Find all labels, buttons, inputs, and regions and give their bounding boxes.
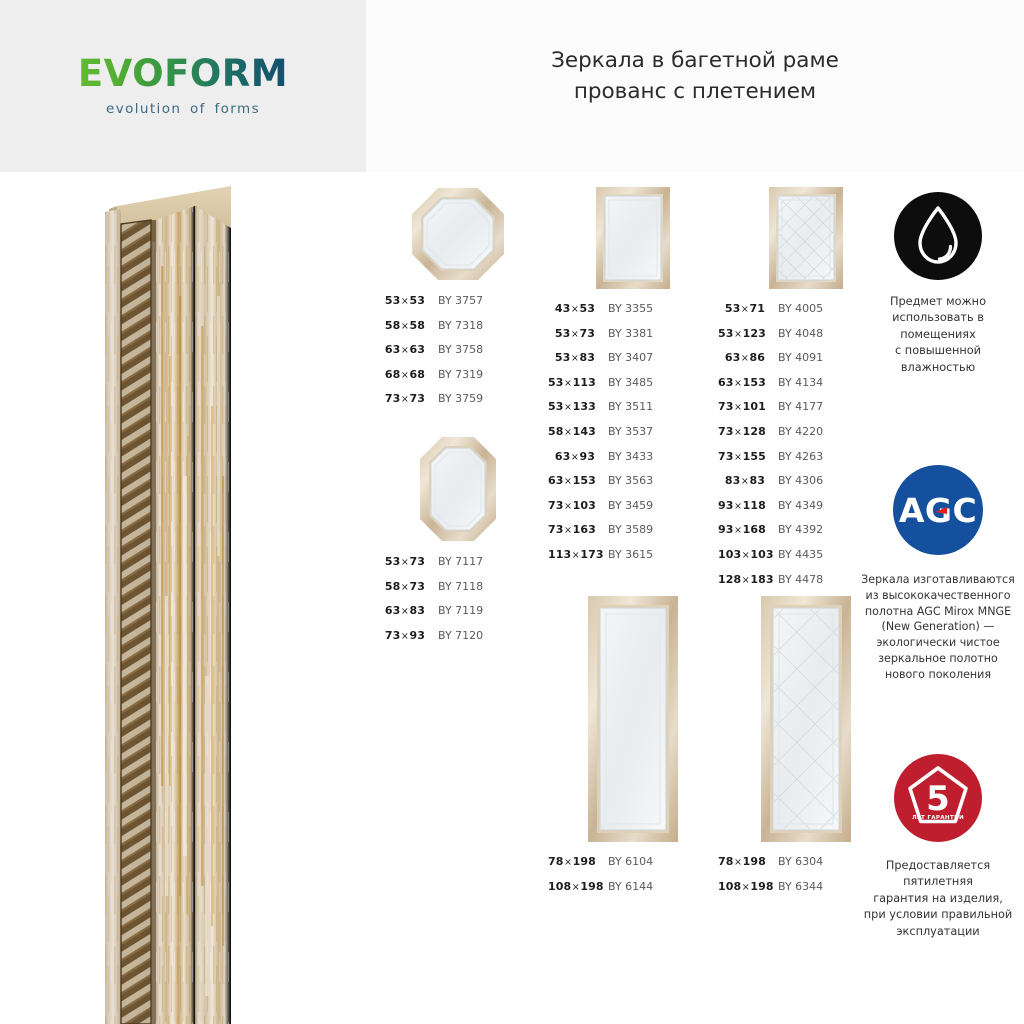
size-row: 63×153BY 3563	[548, 474, 718, 499]
size-row: 63×63BY 3758	[378, 343, 538, 368]
brand-name: EVOFORM	[78, 55, 288, 92]
size-dimension: 53×113	[548, 376, 608, 389]
text-line: пятилетняя	[848, 874, 1024, 890]
size-dimension: 63×63	[378, 343, 438, 356]
mirror-floor-engraved-icon	[760, 595, 852, 843]
frame-profile-illustration	[95, 176, 231, 1024]
size-dimension: 93×118	[718, 499, 778, 512]
size-article-code: BY 3589	[608, 523, 653, 536]
size-dimension: 58×58	[378, 319, 438, 332]
size-row: 53×73BY 7117	[378, 555, 538, 580]
mirror-octagon-square-icon	[410, 186, 506, 282]
size-dimension: 73×128	[718, 425, 778, 438]
size-article-code: BY 4005	[778, 302, 823, 315]
size-article-code: BY 7117	[438, 555, 483, 568]
product-group-rect-plain: 43×53BY 335553×73BY 338153×83BY 340753×1…	[548, 186, 718, 573]
size-article-code: BY 6104	[608, 855, 653, 868]
size-article-code: BY 6304	[778, 855, 823, 868]
text-line: Зеркала изготавливаются	[848, 572, 1024, 588]
size-dimension: 53×83	[548, 351, 608, 364]
size-dimension: 113×173	[548, 548, 608, 561]
size-row: 73×73BY 3759	[378, 392, 538, 417]
size-row: 73×128BY 4220	[718, 425, 893, 450]
mirror-rect-engraved-icon	[768, 186, 844, 290]
size-row: 108×198BY 6144	[548, 880, 718, 905]
size-dimension: 78×198	[548, 855, 608, 868]
size-article-code: BY 3433	[608, 450, 653, 463]
size-dimension: 103×103	[718, 548, 778, 561]
size-article-code: BY 3615	[608, 548, 653, 561]
thumbnail-octagon-square[interactable]	[378, 186, 538, 282]
text-line: использовать в	[848, 310, 1024, 326]
feature-agc-glass: AGC Зеркала изготавливаютсяиз высококаче…	[848, 462, 1024, 682]
warranty-5-years-icon: 5 ЛЕТ ГАРАНТИИ	[892, 752, 984, 844]
size-row: 78×198BY 6104	[548, 855, 718, 880]
mirror-octagon-portrait-icon	[418, 435, 498, 543]
size-dimension: 63×93	[548, 450, 608, 463]
size-row: 43×53BY 3355	[548, 302, 718, 327]
agc-description: Зеркала изготавливаютсяиз высококачестве…	[848, 572, 1024, 682]
size-article-code: BY 6144	[608, 880, 653, 893]
size-row: 63×83BY 7119	[378, 604, 538, 629]
size-article-code: BY 4349	[778, 499, 823, 512]
size-list-rect-plain: 43×53BY 335553×73BY 338153×83BY 340753×1…	[548, 302, 718, 573]
product-group-octagon-square: 53×53BY 375758×58BY 731863×63BY 375868×6…	[378, 186, 538, 417]
feature-moisture: Предмет можноиспользовать впомещенияхс п…	[848, 192, 1024, 376]
moisture-description: Предмет можноиспользовать впомещенияхс п…	[848, 294, 1024, 376]
size-article-code: BY 4220	[778, 425, 823, 438]
size-row: 73×101BY 4177	[718, 400, 893, 425]
size-dimension: 73×103	[548, 499, 608, 512]
size-article-code: BY 4177	[778, 400, 823, 413]
size-article-code: BY 6344	[778, 880, 823, 893]
size-dimension: 73×73	[378, 392, 438, 405]
size-dimension: 108×198	[548, 880, 608, 893]
moisture-badge	[848, 192, 1024, 280]
size-dimension: 63×153	[548, 474, 608, 487]
page-header: EVOFORM evolution of forms Зеркала в баг…	[0, 0, 1024, 172]
text-line: из высококачественного	[848, 588, 1024, 604]
feature-warranty: 5 ЛЕТ ГАРАНТИИ Предоставляетсяпятилетняя…	[848, 752, 1024, 940]
size-dimension: 128×183	[718, 573, 778, 586]
size-dimension: 93×168	[718, 523, 778, 536]
size-article-code: BY 7119	[438, 604, 483, 617]
size-row: 58×58BY 7318	[378, 319, 538, 344]
text-line: (New Generation) —	[848, 619, 1024, 635]
size-article-code: BY 4478	[778, 573, 823, 586]
size-article-code: BY 3485	[608, 376, 653, 389]
size-row: 53×133BY 3511	[548, 400, 718, 425]
text-line: экологически чистое	[848, 635, 1024, 651]
product-group-floor-plain: 78×198BY 6104108×198BY 6144	[548, 595, 718, 904]
size-dimension: 43×53	[548, 302, 608, 315]
warranty-sublabel: ЛЕТ ГАРАНТИИ	[912, 815, 964, 821]
size-article-code: BY 4263	[778, 450, 823, 463]
page-title-line-1: Зеркала в багетной раме	[551, 46, 839, 77]
size-row: 53×53BY 3757	[378, 294, 538, 319]
size-row: 53×73BY 3381	[548, 327, 718, 352]
size-dimension: 83×83	[718, 474, 778, 487]
size-article-code: BY 3381	[608, 327, 653, 340]
size-article-code: BY 3459	[608, 499, 653, 512]
page-title-line-2: прованс с плетением	[551, 77, 839, 108]
size-article-code: BY 4435	[778, 548, 823, 561]
size-row: 73×103BY 3459	[548, 499, 718, 524]
size-article-code: BY 3758	[438, 343, 483, 356]
size-row: 73×163BY 3589	[548, 523, 718, 548]
text-line: при условии правильной	[848, 907, 1024, 923]
warranty-badge: 5 ЛЕТ ГАРАНТИИ	[848, 752, 1024, 844]
text-line: помещениях	[848, 327, 1024, 343]
size-dimension: 53×123	[718, 327, 778, 340]
text-line: полотна AGC Mirox MNGE	[848, 604, 1024, 620]
text-line: гарантия на изделия,	[848, 891, 1024, 907]
text-line: нового поколения	[848, 667, 1024, 683]
size-dimension: 63×83	[378, 604, 438, 617]
size-dimension: 108×198	[718, 880, 778, 893]
size-row: 73×93BY 7120	[378, 629, 538, 654]
page-title: Зеркала в багетной раме прованс с плетен…	[551, 46, 839, 107]
size-list-octagon-portrait: 53×73BY 711758×73BY 711863×83BY 711973×9…	[378, 555, 538, 653]
size-article-code: BY 7319	[438, 368, 483, 381]
brand-logo-panel: EVOFORM evolution of forms	[0, 0, 366, 172]
product-group-octagon-portrait: 53×73BY 711758×73BY 711863×83BY 711973×9…	[378, 435, 538, 653]
size-row: 58×73BY 7118	[378, 580, 538, 605]
size-row: 113×173BY 3615	[548, 548, 718, 573]
text-line: с повышенной	[848, 343, 1024, 359]
size-row: 63×153BY 4134	[718, 376, 893, 401]
brand-tagline: evolution of forms	[106, 101, 260, 117]
size-article-code: BY 4306	[778, 474, 823, 487]
page-title-panel: Зеркала в багетной раме прованс с плетен…	[366, 0, 1024, 172]
catalog-page: EVOFORM evolution of forms Зеркала в баг…	[0, 0, 1024, 1024]
size-list-floor-plain: 78×198BY 6104108×198BY 6144	[548, 855, 718, 904]
size-article-code: BY 7318	[438, 319, 483, 332]
mirror-floor-plain-icon	[587, 595, 679, 843]
size-dimension: 53×53	[378, 294, 438, 307]
agc-logo-icon: AGC	[890, 462, 986, 558]
size-row: 63×93BY 3433	[548, 450, 718, 475]
size-row: 53×113BY 3485	[548, 376, 718, 401]
size-article-code: BY 4048	[778, 327, 823, 340]
size-article-code: BY 4392	[778, 523, 823, 536]
size-dimension: 63×86	[718, 351, 778, 364]
text-line: влажностью	[848, 360, 1024, 376]
thumbnail-octagon-portrait[interactable]	[378, 435, 538, 543]
size-article-code: BY 3757	[438, 294, 483, 307]
text-line: эксплуатации	[848, 924, 1024, 940]
size-dimension: 73×163	[548, 523, 608, 536]
size-article-code: BY 3537	[608, 425, 653, 438]
size-dimension: 58×73	[378, 580, 438, 593]
size-article-code: BY 3759	[438, 392, 483, 405]
size-dimension: 73×93	[378, 629, 438, 642]
agc-badge: AGC	[848, 462, 1024, 558]
size-dimension: 73×155	[718, 450, 778, 463]
text-line: Предмет можно	[848, 294, 1024, 310]
size-article-code: BY 4134	[778, 376, 823, 389]
size-row: 68×68BY 7319	[378, 368, 538, 393]
size-article-code: BY 7120	[438, 629, 483, 642]
size-dimension: 53×71	[718, 302, 778, 315]
size-article-code: BY 7118	[438, 580, 483, 593]
frame-profile-sample	[95, 176, 231, 1024]
size-dimension: 58×143	[548, 425, 608, 438]
agc-badge-label: AGC	[899, 491, 977, 530]
size-dimension: 73×101	[718, 400, 778, 413]
size-dimension: 78×198	[718, 855, 778, 868]
thumbnail-floor-plain[interactable]	[548, 595, 718, 843]
thumbnail-rect-plain[interactable]	[548, 186, 718, 290]
warranty-number: 5	[926, 779, 950, 819]
size-row: 53×83BY 3407	[548, 351, 718, 376]
size-dimension: 63×153	[718, 376, 778, 389]
size-dimension: 53×133	[548, 400, 608, 413]
size-dimension: 53×73	[548, 327, 608, 340]
size-dimension: 53×73	[378, 555, 438, 568]
size-article-code: BY 3563	[608, 474, 653, 487]
text-line: зеркальное полотно	[848, 651, 1024, 667]
size-article-code: BY 3511	[608, 400, 653, 413]
size-article-code: BY 4091	[778, 351, 823, 364]
size-list-octagon-square: 53×53BY 375758×58BY 731863×63BY 375868×6…	[378, 294, 538, 417]
size-dimension: 68×68	[378, 368, 438, 381]
size-article-code: BY 3355	[608, 302, 653, 315]
mirror-rect-plain-icon	[595, 186, 671, 290]
text-line: Предоставляется	[848, 858, 1024, 874]
size-article-code: BY 3407	[608, 351, 653, 364]
size-row: 58×143BY 3537	[548, 425, 718, 450]
warranty-description: Предоставляетсяпятилетняягарантия на изд…	[848, 858, 1024, 940]
water-drop-icon	[894, 192, 982, 280]
